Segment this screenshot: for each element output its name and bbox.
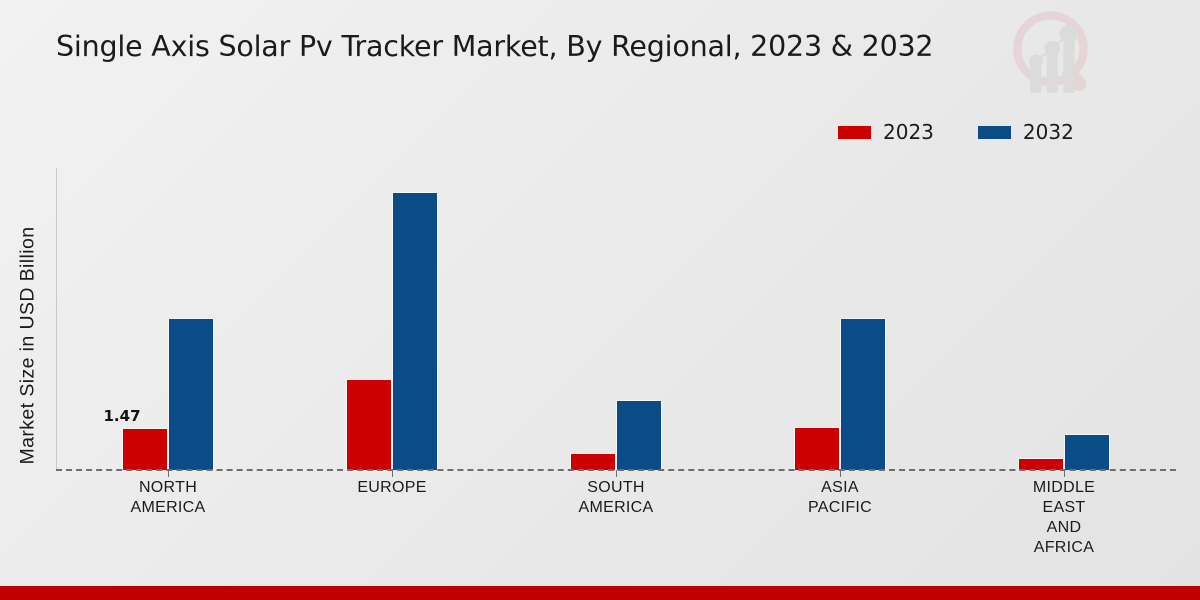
bar-south-america-2023[interactable] (570, 453, 616, 470)
x-tick-north-america (168, 470, 169, 477)
legend-item-2032[interactable]: 2032 (978, 120, 1074, 144)
bar-south-america-2032[interactable] (616, 400, 662, 470)
legend-label-2023: 2023 (883, 120, 934, 144)
legend-item-2023[interactable]: 2023 (838, 120, 934, 144)
x-label-north-america: NORTHAMERICA (56, 478, 280, 558)
bar-groups: 1.47 (56, 168, 1176, 470)
x-label-middle-east-and-africa: MIDDLEEASTANDAFRICA (952, 478, 1176, 558)
chart-legend: 2023 2032 (838, 120, 1074, 144)
bar-north-america-2023[interactable] (122, 428, 168, 470)
x-tick-middle-east-and-africa (1064, 470, 1065, 477)
legend-swatch-2023 (838, 126, 871, 139)
plot-area: 1.47 (56, 168, 1176, 470)
x-tick-europe (392, 470, 393, 477)
bar-europe-2032[interactable] (392, 192, 438, 470)
footer-strip (0, 586, 1200, 600)
x-axis-labels: NORTHAMERICA EUROPE SOUTHAMERICA ASIAPAC… (56, 478, 1176, 558)
bars-europe (346, 168, 438, 470)
bar-europe-2023[interactable] (346, 379, 392, 470)
axis-baseline (56, 469, 1176, 471)
bars-south-america (570, 168, 662, 470)
x-tick-south-america (616, 470, 617, 477)
x-tick-asia-pacific (840, 470, 841, 477)
x-label-europe: EUROPE (280, 478, 504, 558)
bar-group-south-america (504, 168, 728, 470)
bar-north-america-2032[interactable] (168, 318, 214, 470)
bars-asia-pacific (794, 168, 886, 470)
bar-asia-pacific-2023[interactable] (794, 427, 840, 470)
bar-group-north-america: 1.47 (56, 168, 280, 470)
bar-group-middle-east-and-africa (952, 168, 1176, 470)
chart-title: Single Axis Solar Pv Tracker Market, By … (56, 30, 933, 63)
y-axis-title: Market Size in USD Billion (17, 166, 40, 526)
market-research-future-logo (1010, 8, 1102, 104)
legend-label-2032: 2032 (1023, 120, 1074, 144)
legend-swatch-2032 (978, 126, 1011, 139)
x-label-asia-pacific: ASIAPACIFIC (728, 478, 952, 558)
bar-group-asia-pacific (728, 168, 952, 470)
bar-group-europe (280, 168, 504, 470)
bars-middle-east-and-africa (1018, 168, 1110, 470)
chart-page: Single Axis Solar Pv Tracker Market, By … (0, 0, 1200, 600)
bar-middle-east-and-africa-2032[interactable] (1064, 434, 1110, 470)
value-label-north-america-2023: 1.47 (103, 407, 140, 425)
bar-asia-pacific-2032[interactable] (840, 318, 886, 470)
x-label-south-america: SOUTHAMERICA (504, 478, 728, 558)
